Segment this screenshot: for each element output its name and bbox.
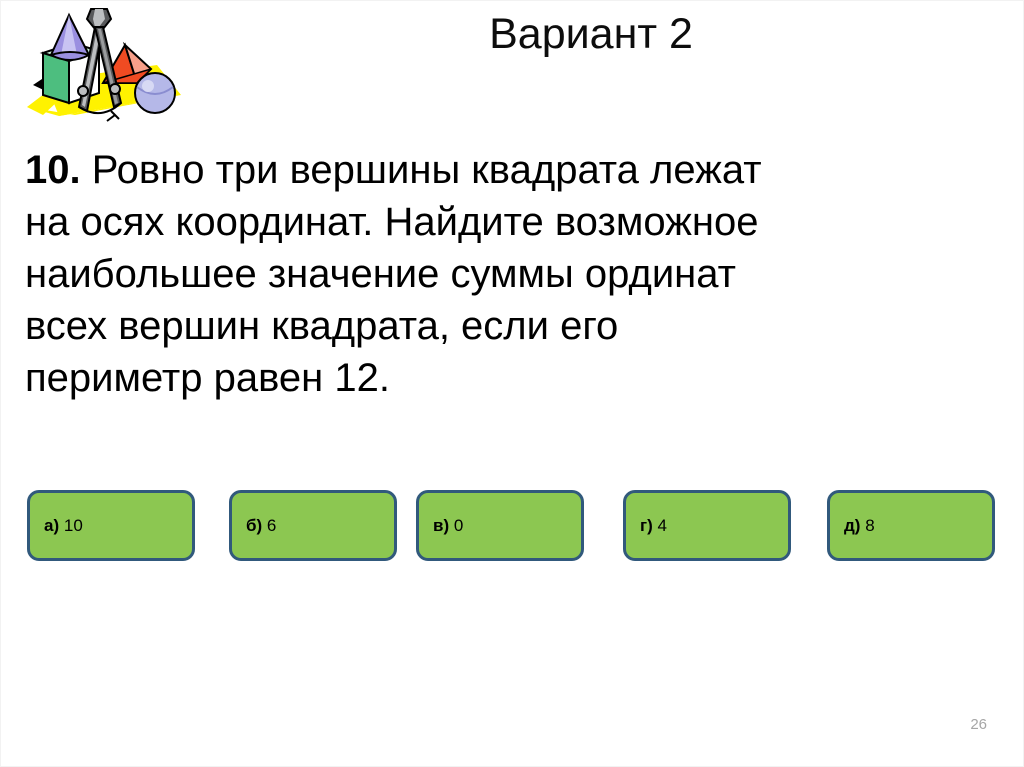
answer-option-d-content: д) 8 — [830, 516, 875, 536]
answer-option-d-value: 8 — [865, 516, 874, 535]
answer-option-b-value: 6 — [267, 516, 276, 535]
question-line-1: 10. Ровно три вершины квадрата лежат — [25, 144, 1000, 196]
answer-option-v[interactable]: в) 0 — [416, 490, 584, 561]
answer-option-g-value: 4 — [657, 516, 666, 535]
question-line-4: всех вершин квадрата, если его — [25, 300, 1000, 352]
answer-option-v-letter: в) — [433, 516, 449, 535]
answer-option-a-content: а) 10 — [30, 516, 83, 536]
page-title: Вариант 2 — [191, 7, 991, 61]
answer-option-g-letter: г) — [640, 516, 653, 535]
answer-option-b[interactable]: б) 6 — [229, 490, 397, 561]
question-line-5: периметр равен 12. — [25, 352, 1000, 404]
answer-option-a-value: 10 — [64, 516, 83, 535]
answer-option-v-content: в) 0 — [419, 516, 463, 536]
answer-options-row: а) 10 б) 6 в) 0 г) 4 д) 8 — [1, 490, 1024, 570]
question-line-1-text: Ровно три вершины квадрата лежат — [92, 148, 762, 192]
answer-option-a[interactable]: а) 10 — [27, 490, 195, 561]
geometry-solids-clipart — [15, 3, 187, 131]
answer-option-v-value: 0 — [454, 516, 463, 535]
answer-option-d-letter: д) — [844, 516, 860, 535]
answer-option-g-content: г) 4 — [626, 516, 667, 536]
answer-option-g[interactable]: г) 4 — [623, 490, 791, 561]
answer-option-b-content: б) 6 — [232, 516, 276, 536]
answer-option-d[interactable]: д) 8 — [827, 490, 995, 561]
answer-option-a-letter: а) — [44, 516, 59, 535]
question-text: 10. Ровно три вершины квадрата лежат на … — [25, 144, 1000, 404]
slide: Вариант 2 10. Ровно три вершины квадрата… — [0, 0, 1024, 767]
question-line-3: наибольшее значение суммы ординат — [25, 248, 1000, 300]
question-line-2: на осях координат. Найдите возможное — [25, 196, 1000, 248]
question-number: 10. — [25, 148, 81, 192]
page-number: 26 — [970, 716, 987, 733]
answer-option-b-letter: б) — [246, 516, 262, 535]
